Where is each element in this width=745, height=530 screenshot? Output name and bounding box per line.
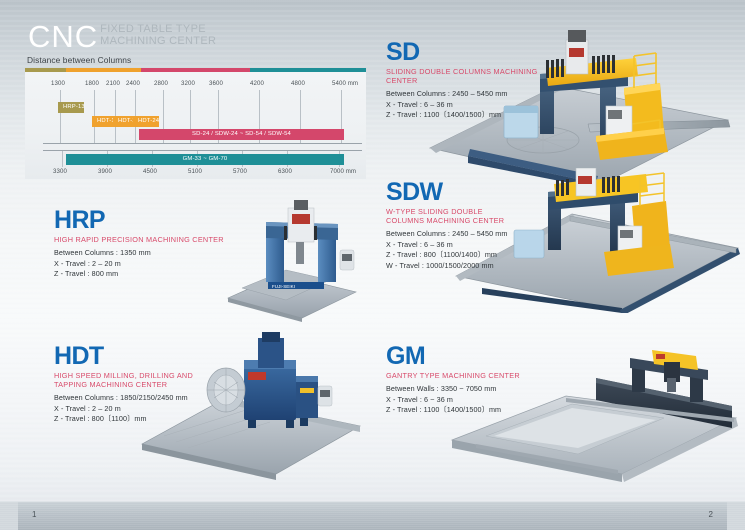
chart-bottom-axis-line <box>43 150 362 151</box>
machine-image-hrp: FUJI-SEIKI <box>222 200 362 322</box>
product-spec-sdw-1: X - Travel : 6 – 36 m <box>386 240 521 251</box>
chart-top-tick-label: 2100 <box>106 80 120 87</box>
chart-bar-label: SD-24 / SDW-24 ~ SD-54 / SDW-54 <box>192 131 291 137</box>
product-spec-gm-1: X - Travel : 6 ~ 36 m <box>386 395 561 406</box>
chart-top-tick-label: 2800 <box>154 80 168 87</box>
chart-bar-label: HRP-13 <box>58 104 85 110</box>
chart-top-gridline <box>60 90 61 143</box>
brochure-page: CNC FIXED TABLE TYPE MACHINING CENTER Di… <box>0 0 745 530</box>
chart-top-tick-label: 5400 mm <box>332 80 358 87</box>
product-name-hrp: HIGH RAPID PRECISION MACHINING CENTER <box>54 235 229 244</box>
product-spec-sd-0: Between Columns : 2450 – 5450 mm <box>386 89 566 100</box>
product-spec-hrp-2: Z - Travel : 800 mm <box>54 269 229 280</box>
product-spec-hdt-2: Z - Travel : 800〔1100〕mm <box>54 414 204 425</box>
product-code-hrp: HRP <box>54 208 229 233</box>
product-block-hrp: HRP HIGH RAPID PRECISION MACHINING CENTE… <box>54 208 229 280</box>
product-spec-sd-2: Z - Travel : 1100〔1400/1500〕mm <box>386 110 566 121</box>
chart-bottom-tick-label: 3900 <box>98 168 112 175</box>
chart-bottom-tick-label: 4500 <box>143 168 157 175</box>
product-block-sdw: SDW W-TYPE SLIDING DOUBLE COLUMNS MACHIN… <box>386 180 521 271</box>
chart-bar: SD-24 / SDW-24 ~ SD-54 / SDW-54 <box>139 129 344 140</box>
chart-top-tick-label: 1300 <box>51 80 65 87</box>
product-spec-sdw-2: Z - Travel : 800〔1100/1400〕mm <box>386 250 521 261</box>
product-name-sd: SLIDING DOUBLE COLUMNS MACHINING CENTER <box>386 67 566 85</box>
svg-text:FUJI-SEIKI: FUJI-SEIKI <box>272 284 295 289</box>
chart-bar: HRP-13 <box>58 102 84 113</box>
product-spec-gm-0: Between Walls : 3350 ~ 7050 mm <box>386 384 561 395</box>
chart-bottom-tick-label: 6300 <box>278 168 292 175</box>
chart-bottom-tick-label: 7000 mm <box>330 168 356 175</box>
footer-edge-left <box>0 502 18 530</box>
product-spec-sdw-3: W - Travel : 1000/1500/2000 mm <box>386 261 521 272</box>
chart-top-tick-label: 3200 <box>181 80 195 87</box>
product-spec-sdw-0: Between Columns : 2450 – 5450 mm <box>386 229 521 240</box>
product-spec-hdt-0: Between Columns : 1850/2150/2450 mm <box>54 393 204 404</box>
product-code-gm: GM <box>386 344 561 369</box>
chart-plot-area: 1300180021002400280032003600420048005400… <box>25 72 366 179</box>
chart-bottom-tick-label: 3300 <box>53 168 67 175</box>
chart-bar: GM-33 ~ GM-70 <box>66 154 344 165</box>
page-footer: 1 2 <box>0 501 745 530</box>
header-subtitle-line2: MACHINING CENTER <box>100 36 216 48</box>
chart-top-tick-label: 4200 <box>250 80 264 87</box>
chart-bar-label: HDT-24 <box>133 118 159 124</box>
product-code-hdt: HDT <box>54 344 204 369</box>
chart-top-tick-label: 1800 <box>85 80 99 87</box>
chart-top-tick-label: 4800 <box>291 80 305 87</box>
chart-bar-label: GM-33 ~ GM-70 <box>183 156 228 162</box>
product-code-sd: SD <box>386 40 566 65</box>
chart-top-tick-label: 2400 <box>126 80 140 87</box>
product-spec-hrp-1: X - Travel : 2 – 20 m <box>54 259 229 270</box>
product-spec-hrp-0: Between Columns : 1350 mm <box>54 248 229 259</box>
product-code-sdw: SDW <box>386 180 521 205</box>
page-number-right: 2 <box>709 510 713 519</box>
chart-top-axis-line <box>43 143 362 144</box>
product-block-sd: SD SLIDING DOUBLE COLUMNS MACHINING CENT… <box>386 40 566 121</box>
product-spec-gm-2: Z - Travel : 1100〔1400/1500〕mm <box>386 405 561 416</box>
product-name-sdw: W-TYPE SLIDING DOUBLE COLUMNS MACHINING … <box>386 207 521 225</box>
product-spec-sd-1: X - Travel : 6 – 36 m <box>386 100 566 111</box>
chart-bottom-tick-label: 5100 <box>188 168 202 175</box>
page-number-left: 1 <box>32 510 36 519</box>
chart-bottom-gridline <box>62 150 63 167</box>
chart-title: Distance between Columns <box>27 55 366 65</box>
product-block-hdt: HDT HIGH SPEED MILLING, DRILLING AND TAP… <box>54 344 204 425</box>
product-name-hdt: HIGH SPEED MILLING, DRILLING AND TAPPING… <box>54 371 204 389</box>
chart-bar: HDT-24 <box>133 116 159 127</box>
header-subtitle-line1: FIXED TABLE TYPE <box>100 24 216 36</box>
footer-edge-right <box>727 502 745 530</box>
product-spec-hdt-1: X - Travel : 2 – 20 m <box>54 404 204 415</box>
distance-chart-panel: Distance between Columns 130018002100240… <box>25 55 366 177</box>
chart-bottom-tick-label: 5700 <box>233 168 247 175</box>
product-block-gm: GM GANTRY TYPE MACHINING CENTER Between … <box>386 344 561 416</box>
chart-top-tick-label: 3600 <box>209 80 223 87</box>
header-subtitle: FIXED TABLE TYPE MACHINING CENTER <box>100 24 216 47</box>
product-name-gm: GANTRY TYPE MACHINING CENTER <box>386 371 561 380</box>
logo-cnc: CNC <box>28 22 98 52</box>
page-header: CNC FIXED TABLE TYPE MACHINING CENTER <box>28 22 216 52</box>
